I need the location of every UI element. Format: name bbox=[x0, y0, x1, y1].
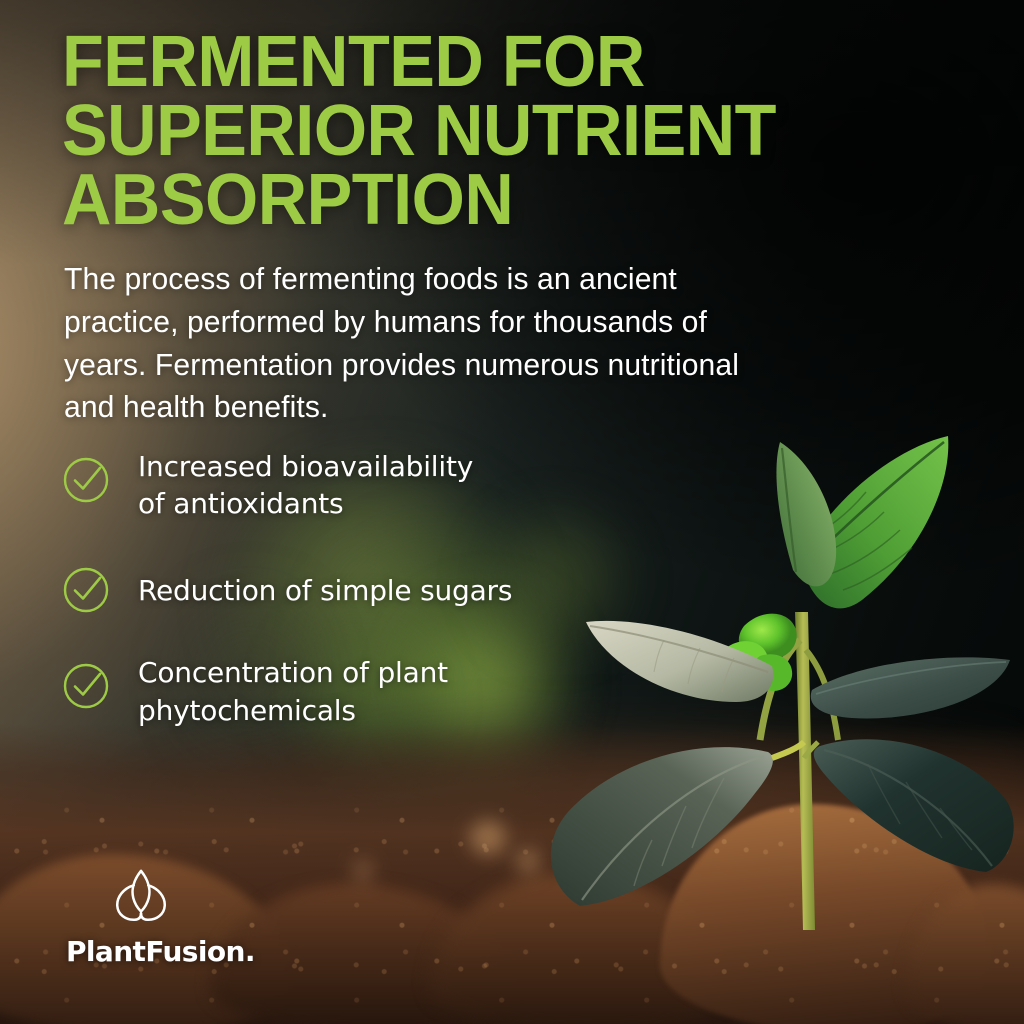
page-title: FERMENTED FOR SUPERIOR NUTRIENT ABSORPTI… bbox=[62, 28, 822, 235]
list-item: Concentration of plant phytochemicals bbox=[62, 658, 662, 728]
circle-check-icon bbox=[62, 662, 110, 710]
brand-logo: PlantFusion. bbox=[66, 865, 266, 968]
benefit-label: Increased bioavailability of antioxidant… bbox=[138, 448, 473, 522]
benefits-list: Increased bioavailability of antioxidant… bbox=[62, 452, 662, 729]
headline-line-3: ABSORPTION bbox=[62, 166, 822, 235]
circle-check-icon bbox=[62, 456, 110, 504]
headline-line-1: FERMENTED FOR bbox=[62, 28, 822, 97]
list-item: Increased bioavailability of antioxidant… bbox=[62, 452, 662, 522]
headline-line-2: SUPERIOR NUTRIENT bbox=[62, 97, 822, 166]
lotus-petal-icon bbox=[110, 865, 172, 927]
circle-check-icon bbox=[62, 566, 110, 614]
list-item: Reduction of simple sugars bbox=[62, 566, 662, 614]
benefit-label: Concentration of plant phytochemicals bbox=[138, 654, 448, 728]
intro-paragraph: The process of fermenting foods is an an… bbox=[64, 258, 772, 429]
promotional-poster: FERMENTED FOR SUPERIOR NUTRIENT ABSORPTI… bbox=[0, 0, 1024, 1024]
brand-wordmark: PlantFusion. bbox=[66, 935, 266, 968]
benefit-label: Reduction of simple sugars bbox=[138, 572, 512, 609]
